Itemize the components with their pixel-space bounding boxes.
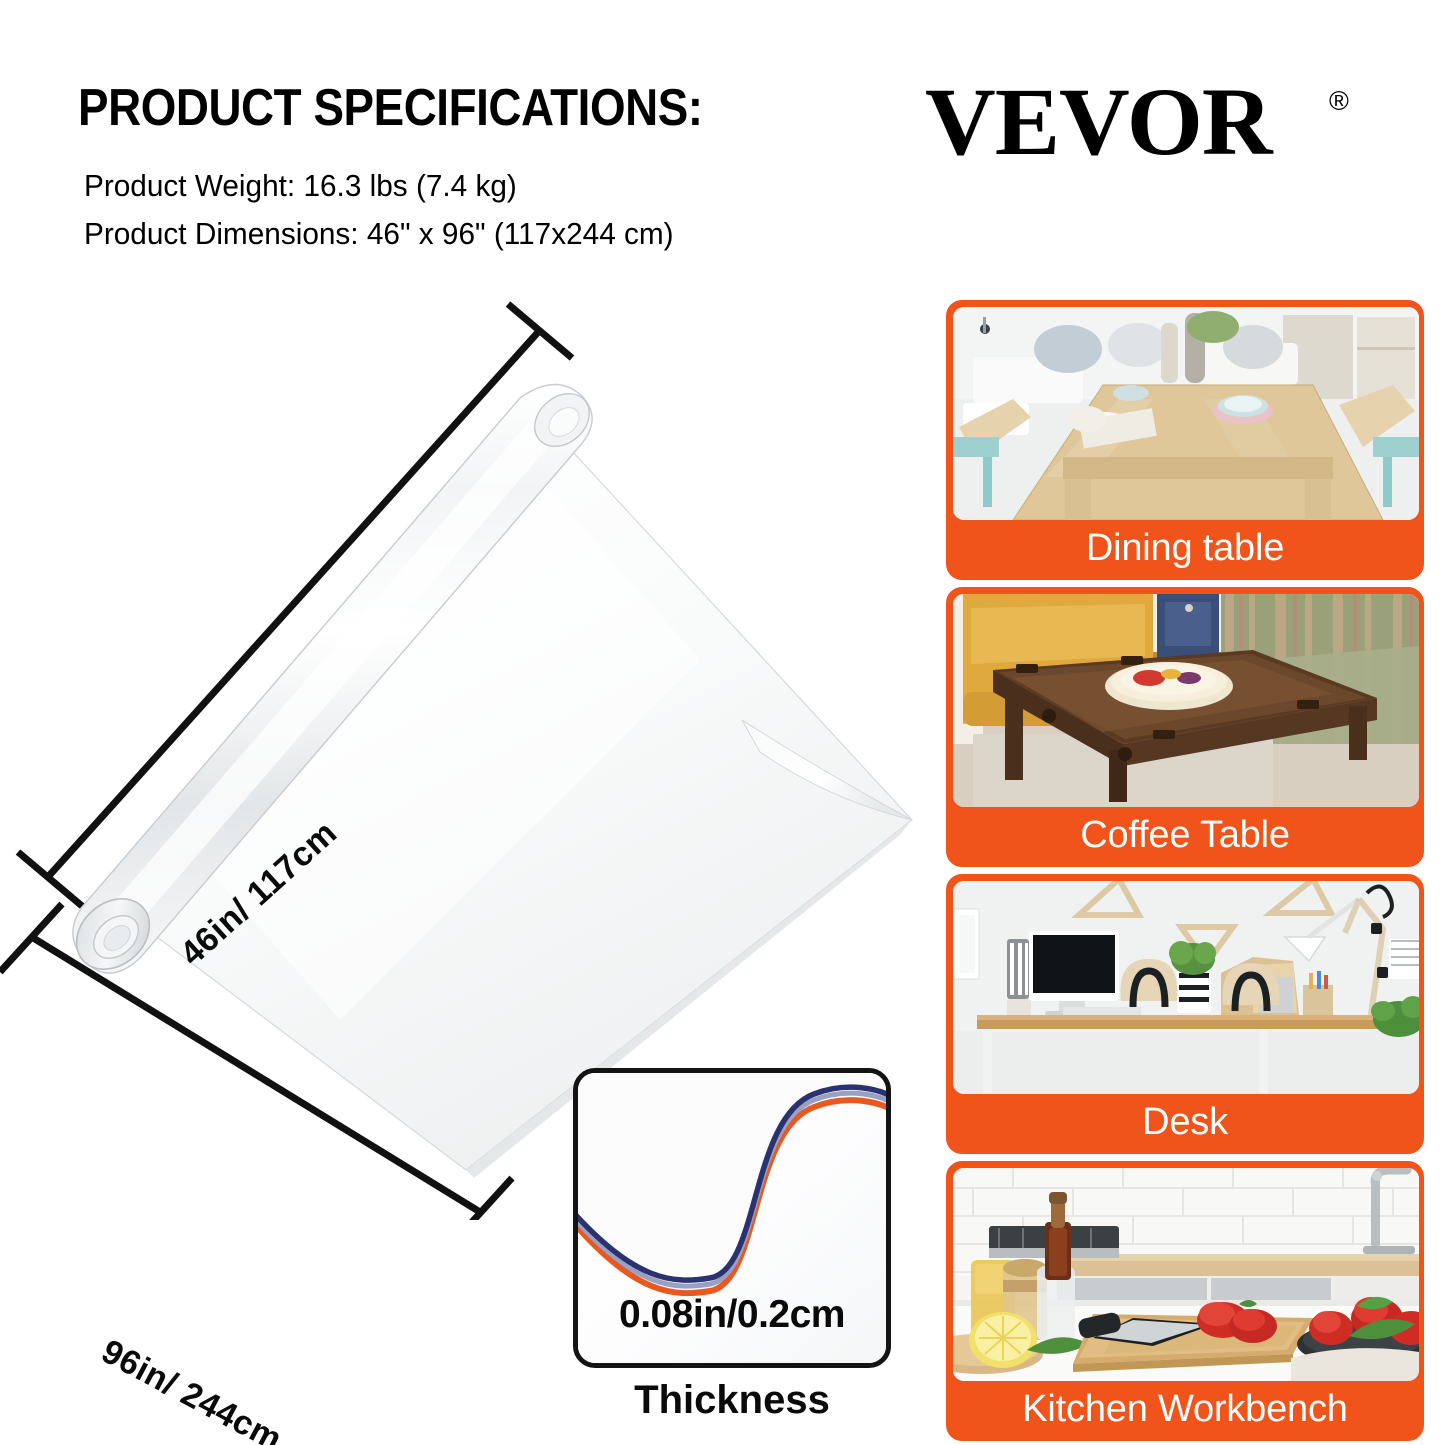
use-case-card-desk[interactable]: Desk — [946, 874, 1424, 1154]
registered-trademark-icon: ® — [1329, 86, 1349, 117]
kitchen-workbench-photo — [953, 1168, 1419, 1381]
thickness-callout-box: 0.08in/0.2cm — [573, 1068, 891, 1368]
use-case-label-dining-table: Dining table — [947, 518, 1423, 579]
brand-wordmark: VEVOR — [925, 72, 1359, 172]
dining-table-photo — [953, 307, 1419, 520]
dimension-label-length: 96in/ 244cm — [95, 1332, 288, 1445]
vevor-logo: VEVOR ® — [925, 72, 1350, 172]
page-title: PRODUCT SPECIFICATIONS: — [78, 78, 703, 138]
spec-product-dimensions: Product Dimensions: 46" x 96" (117x244 c… — [84, 216, 674, 252]
thickness-caption: Thickness — [573, 1378, 891, 1423]
use-case-label-coffee-table: Coffee Table — [947, 805, 1423, 866]
use-case-card-list: Dining table — [946, 300, 1424, 1445]
coffee-table-photo — [953, 594, 1419, 807]
use-case-label-desk: Desk — [947, 1092, 1423, 1153]
use-case-label-kitchen-workbench: Kitchen Workbench — [947, 1379, 1423, 1440]
product-spec-page: PRODUCT SPECIFICATIONS: Product Weight: … — [0, 0, 1445, 1445]
use-case-card-dining-table[interactable]: Dining table — [946, 300, 1424, 580]
spec-product-weight: Product Weight: 16.3 lbs (7.4 kg) — [84, 168, 517, 204]
desk-photo — [953, 881, 1419, 1094]
thickness-value: 0.08in/0.2cm — [578, 1293, 886, 1337]
use-case-card-kitchen-workbench[interactable]: Kitchen Workbench — [946, 1161, 1424, 1441]
use-case-card-coffee-table[interactable]: Coffee Table — [946, 587, 1424, 867]
